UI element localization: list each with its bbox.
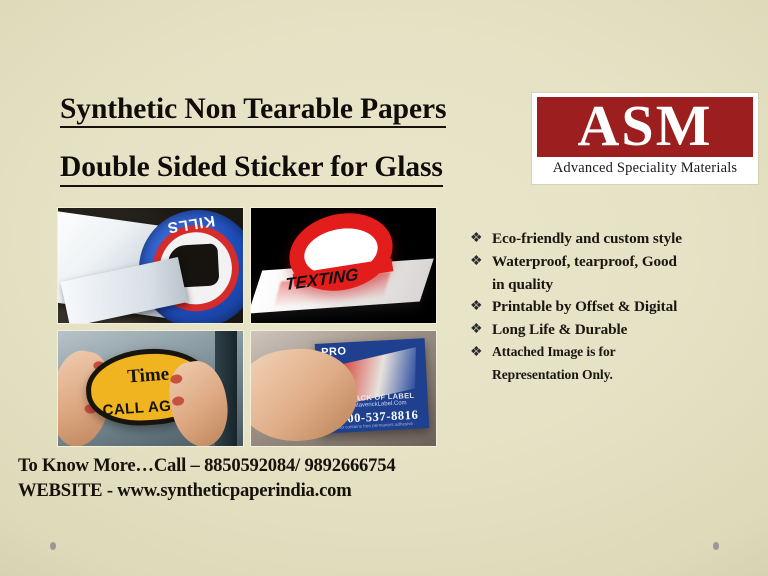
list-item-continuation: in quality bbox=[470, 274, 760, 295]
floret-bullet-icon: ❖ bbox=[470, 319, 492, 341]
floret-bullet-icon: ❖ bbox=[470, 296, 492, 318]
list-item: ❖ Attached Image is for bbox=[470, 342, 760, 364]
decorative-dot-left bbox=[50, 542, 56, 550]
title-line-1-wrap: Synthetic Non Tearable Papers bbox=[60, 94, 520, 128]
fingernail bbox=[171, 396, 184, 407]
fingernail bbox=[170, 374, 183, 385]
list-item: ❖ Waterproof, tearproof, Good bbox=[470, 251, 760, 273]
list-item: ❖ Printable by Offset & Digital bbox=[470, 296, 760, 318]
footer-call-line: To Know More…Call – 8850592084/ 98926667… bbox=[18, 453, 518, 478]
asm-logo-tagline: Advanced Speciality Materials bbox=[537, 157, 753, 179]
floret-bullet-icon: ❖ bbox=[470, 342, 492, 364]
list-item-label: Eco-friendly and custom style bbox=[492, 228, 682, 249]
decorative-dot-right bbox=[713, 542, 719, 550]
contact-footer: To Know More…Call – 8850592084/ 98926667… bbox=[18, 453, 518, 503]
list-item-label: Attached Image is for bbox=[492, 342, 616, 361]
photo-kills-sticker: KILLS bbox=[57, 207, 244, 324]
list-item-label: in quality bbox=[492, 274, 553, 295]
photo-call-again-sticker: Time CALL AGAIN bbox=[57, 330, 244, 447]
list-item-label: Waterproof, tearproof, Good bbox=[492, 251, 677, 272]
page-title-line-1: Synthetic Non Tearable Papers bbox=[60, 94, 446, 128]
floret-bullet-icon: ❖ bbox=[470, 228, 492, 250]
list-item: ❖ Long Life & Durable bbox=[470, 319, 760, 341]
page-title-line-2: Double Sided Sticker for Glass bbox=[60, 152, 443, 186]
footer-website-line: WEBSITE - www.syntheticpaperindia.com bbox=[18, 478, 518, 503]
asm-logo-letters: ASM bbox=[537, 97, 753, 155]
presentation-slide: Synthetic Non Tearable Papers Double Sid… bbox=[0, 0, 768, 576]
product-photo-grid: KILLS TEXTING Time CALL AGAIN bbox=[57, 207, 437, 447]
asm-company-logo: ASM Advanced Speciality Materials bbox=[532, 93, 758, 184]
list-item-continuation: Representation Only. bbox=[470, 365, 760, 384]
photo-texting-sticker: TEXTING bbox=[250, 207, 437, 324]
feature-bullet-list: ❖ Eco-friendly and custom style ❖ Waterp… bbox=[470, 228, 760, 385]
photo-maverick-label: PRO SEE BACK OF LABEL www.MaverickLabel.… bbox=[250, 330, 437, 447]
floret-bullet-icon: ❖ bbox=[470, 251, 492, 273]
list-item: ❖ Eco-friendly and custom style bbox=[470, 228, 760, 250]
list-item-label: Representation Only. bbox=[492, 365, 613, 384]
list-item-label: Long Life & Durable bbox=[492, 319, 627, 340]
list-item-label: Printable by Offset & Digital bbox=[492, 296, 677, 317]
asm-logo-mark: ASM bbox=[537, 97, 753, 157]
title-line-2-wrap: Double Sided Sticker for Glass bbox=[60, 152, 520, 186]
slide-title-block: Synthetic Non Tearable Papers Double Sid… bbox=[60, 94, 520, 187]
